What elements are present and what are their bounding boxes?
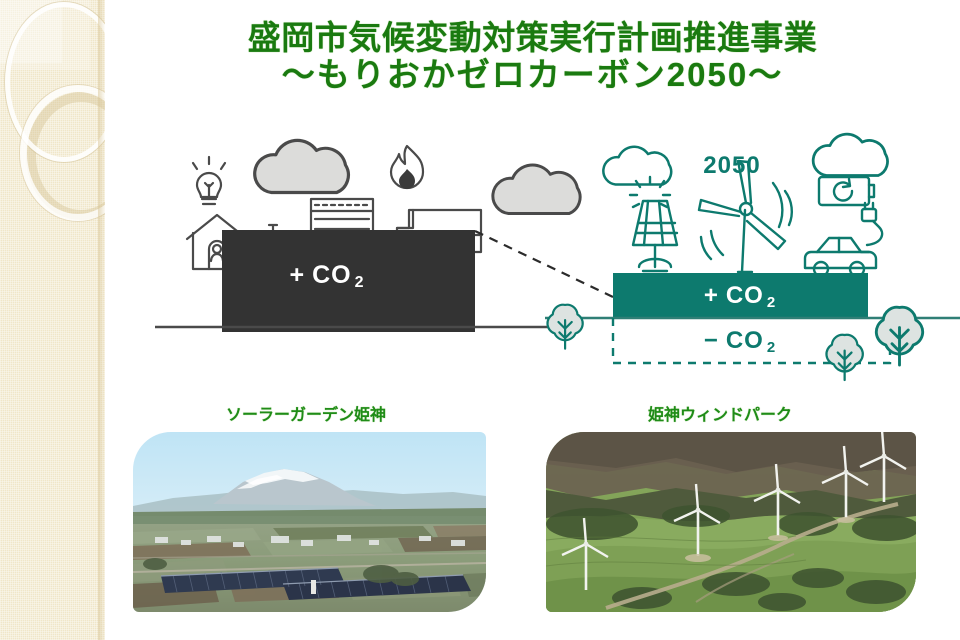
smoke-cloud-icon bbox=[255, 140, 349, 192]
right-block-sub: 2 bbox=[767, 294, 776, 311]
year-2050-label: 2050 bbox=[703, 152, 760, 179]
caption-wind-park: 姫神ウィンドパーク bbox=[648, 401, 792, 425]
left-block-sub: 2 bbox=[355, 274, 365, 291]
photo-himekami-wind-park bbox=[546, 432, 916, 612]
smoke-cloud-icon-2 bbox=[493, 165, 580, 214]
solar-panel-icon bbox=[630, 177, 677, 271]
cloud-icon bbox=[603, 147, 671, 185]
svg-text:−CO2: −CO2 bbox=[704, 327, 776, 356]
page-title: 盛岡市気候変動対策実行計画推進事業 〜もりおかゼロカーボン2050〜 bbox=[105, 20, 960, 94]
minus-sub: 2 bbox=[767, 339, 776, 356]
tree-icon bbox=[547, 305, 582, 349]
carbon-neutral-infographic: +CO2 bbox=[105, 125, 960, 390]
band-edge-shadow bbox=[98, 0, 105, 640]
right-block-plus: + bbox=[704, 282, 719, 309]
tree-icon-2 bbox=[876, 307, 922, 365]
minus-sign: − bbox=[704, 327, 719, 354]
title-line-2: 〜もりおかゼロカーボン2050〜 bbox=[105, 57, 960, 94]
perspective-connector-line bbox=[475, 231, 613, 297]
right-block-co: CO bbox=[726, 282, 764, 309]
electric-car-icon bbox=[805, 203, 882, 276]
decorative-side-band bbox=[0, 0, 105, 640]
cloud-icon-2 bbox=[813, 134, 887, 175]
title-line-1: 盛岡市気候変動対策実行計画推進事業 bbox=[105, 20, 960, 57]
caption-solar-garden: ソーラーガーデン姫神 bbox=[226, 401, 386, 425]
battery-recycle-icon bbox=[819, 177, 874, 205]
slide-root: 盛岡市気候変動対策実行計画推進事業 〜もりおかゼロカーボン2050〜 bbox=[0, 0, 960, 640]
tree-icon-3 bbox=[826, 335, 862, 380]
lightbulb-icon bbox=[193, 157, 225, 204]
flame-icon bbox=[391, 146, 423, 189]
left-block-plus: + bbox=[289, 261, 305, 289]
left-block-co: CO bbox=[312, 261, 352, 289]
minus-co: CO bbox=[726, 327, 764, 354]
photo-solar-garden-himekami bbox=[133, 432, 486, 612]
